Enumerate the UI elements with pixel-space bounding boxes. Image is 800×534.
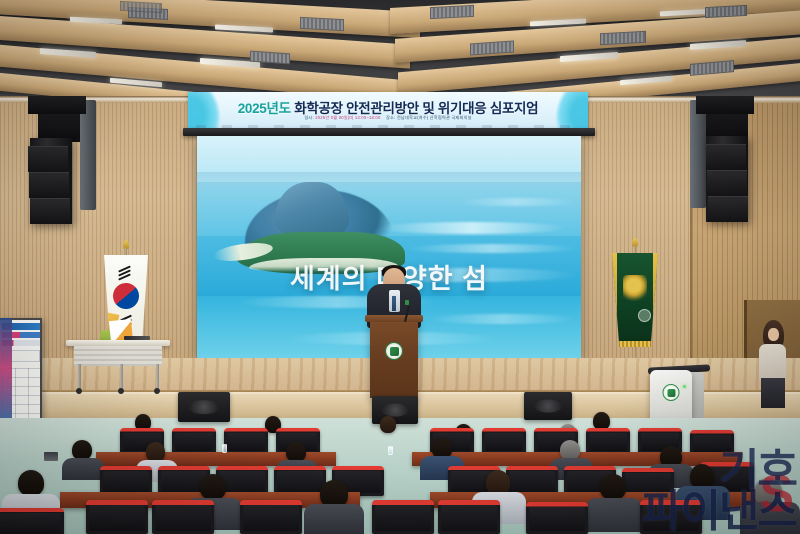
wooden-podium [370,320,418,398]
laptop [44,452,58,461]
lectern-status-led [683,385,686,388]
lectern-emblem [663,384,680,401]
audience-head [200,474,226,500]
audience-shoulders [62,458,104,480]
ceiling-vent [120,1,162,13]
floor-monitor-speaker [524,392,572,420]
attendee-skirt [761,378,785,408]
ceiling-vent [600,31,646,45]
auditorium-seat[interactable] [438,500,500,534]
attendee-blouse [759,344,786,380]
poster-vertical-banner [0,318,12,430]
auditorium-seat[interactable] [0,508,64,534]
water-bottle [222,444,227,453]
audience-head [600,474,626,500]
auditorium-seat[interactable] [482,428,526,454]
ceiling-vent [705,5,747,18]
flag-emblem [623,275,647,301]
flag-seal [638,309,651,322]
banner-title: 2025년도 화학공장 안전관리방안 및 위기대응 심포지엄 [188,97,588,117]
watermark: 기호 파이낸스 [642,451,796,532]
screen-horizon-haze [197,172,581,194]
banner-date-value: 2025년 0월 00일(0) 13:00~18:00 [315,115,380,120]
screen-island-peak [275,182,349,238]
audience-head [72,440,92,460]
auditorium-seat[interactable] [372,500,434,534]
audience-head [286,442,306,462]
podium-emblem [385,342,403,360]
ceiling-vent [300,17,344,31]
presenter-badge [405,300,409,305]
banner-place-value: 전남대학교(여수) 산학협력관 국제회의실 [397,115,472,120]
banner-date-label: 일시 [304,115,312,120]
auditorium-seat[interactable] [224,428,268,454]
audience-head [560,440,580,460]
table-equipment [124,336,150,340]
floor-monitor-speaker [178,392,230,422]
attendee-face [768,328,779,341]
audience-head [380,416,396,433]
auditorium-photo: 2025년도 화학공장 안전관리방안 및 위기대응 심포지엄 일시: 2025년… [0,0,800,534]
banner-title-main: 화학공장 안전관리방안 및 위기대응 심포지엄 [294,101,538,116]
auditorium-seat[interactable] [86,500,148,534]
ceiling-vent [430,5,474,19]
water-bottle [388,446,393,455]
auditorium-seat[interactable] [586,428,630,454]
auditorium-seat[interactable] [526,502,588,534]
audience-shoulders [304,504,364,534]
audience-head [18,470,44,496]
auditorium-seat[interactable] [152,500,214,534]
screen-housing [183,128,595,136]
audience-shoulders [586,498,642,532]
audience-head [146,442,165,462]
presenter-tie [392,296,396,311]
auditorium-seat[interactable] [172,428,216,454]
banner-year: 2025년도 [238,101,291,116]
taegeuk-symbol [109,279,142,312]
banner-place-label: 장소 [386,115,394,120]
watermark-line2: 파이낸스 [642,492,796,532]
ceiling [0,0,800,100]
banner-subtitle: 일시: 2025년 0월 00일(0) 13:00~18:00 장소: 전남대학… [188,115,588,121]
auditorium-seat[interactable] [240,500,302,534]
